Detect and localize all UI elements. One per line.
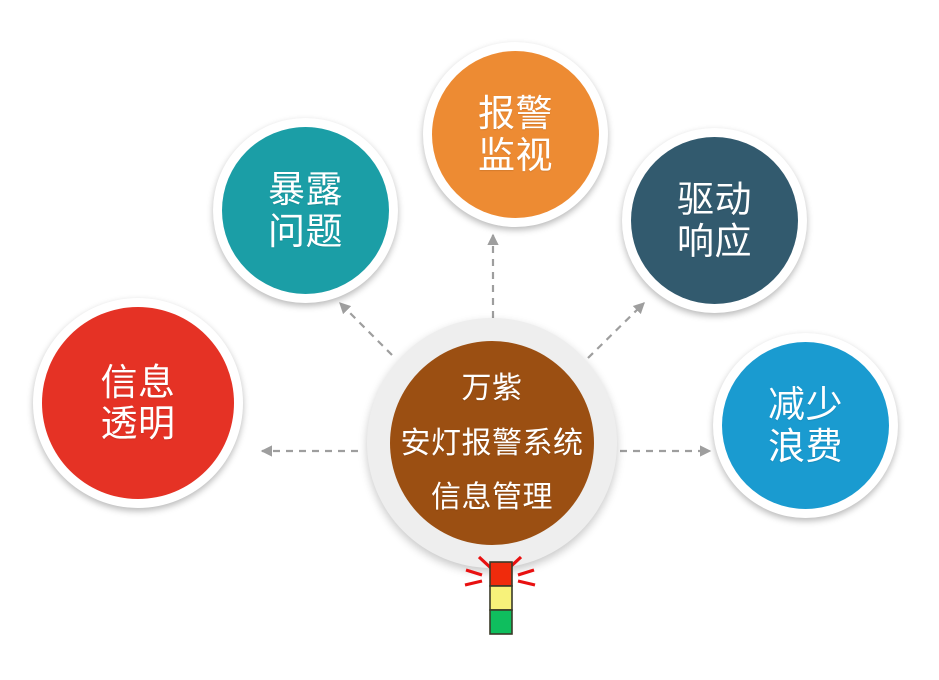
node-reduce-waste[interactable]: 减少 浪费 (713, 333, 898, 518)
node-label-line1: 减少 (768, 384, 843, 425)
center-label-line3: 信息管理 (431, 481, 553, 515)
node-label-line1: 驱动 (677, 179, 752, 220)
node-expose-problem[interactable]: 暴露 问题 (213, 118, 398, 303)
node-label-line2: 监视 (478, 135, 553, 176)
node-center-hub[interactable]: 万紫 安灯报警系统 信息管理 (367, 318, 617, 568)
center-label-line2: 安灯报警系统 (401, 427, 584, 461)
node-label-line1: 报警 (478, 93, 553, 134)
node-label-line2: 问题 (268, 211, 343, 252)
node-label-line2: 响应 (677, 221, 752, 262)
center-label-line1: 万紫 (462, 372, 523, 406)
andon-segment-yellow (490, 586, 512, 610)
node-info-transparent[interactable]: 信息 透明 (33, 298, 243, 508)
node-label-line1: 暴露 (268, 169, 343, 210)
diagram-canvas: 报警 监视 暴露 问题 驱动 响应 信息 透明 减少 浪费 万紫 安灯报警系统 … (0, 0, 939, 680)
node-label-line1: 信息 (101, 362, 176, 403)
connector-to-expose-problem (340, 303, 392, 355)
node-label-line2: 透明 (101, 403, 176, 444)
node-drive-response[interactable]: 驱动 响应 (622, 128, 807, 313)
node-label-line2: 浪费 (768, 426, 843, 467)
node-alarm-monitor[interactable]: 报警 监视 (423, 42, 608, 227)
andon-stack-light (455, 552, 545, 652)
andon-segment-green (490, 610, 512, 634)
connector-to-drive-response (588, 303, 644, 358)
andon-segment-red (490, 562, 512, 586)
